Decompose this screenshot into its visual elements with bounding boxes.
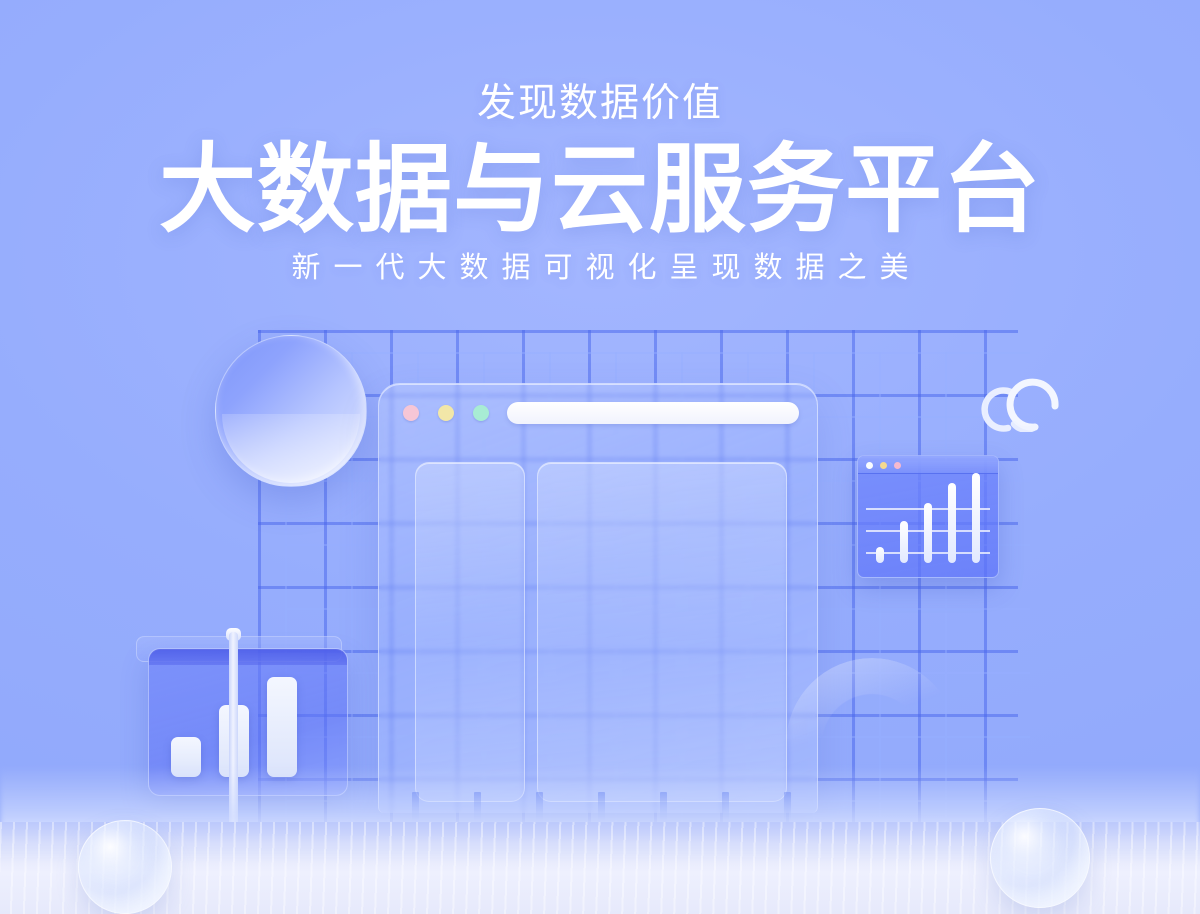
- right-card-bar-5: [972, 473, 980, 563]
- left-card-bar-3: [267, 677, 297, 777]
- cloud-icon: [978, 366, 1068, 432]
- hero-eyebrow: 发现数据价值: [0, 82, 1200, 127]
- browser-window-mockup[interactable]: [378, 383, 818, 813]
- right-card-bar-2: [900, 521, 908, 563]
- mini-dot-3[interactable]: [894, 462, 901, 469]
- browser-title-bar: [379, 384, 817, 442]
- minimize-dot[interactable]: [438, 405, 454, 421]
- sidebar-pane[interactable]: [415, 462, 525, 802]
- content-pane[interactable]: [537, 462, 787, 802]
- left-card-title-bar: [149, 649, 347, 665]
- mini-dot-2[interactable]: [880, 462, 887, 469]
- glass-sphere-left: [78, 820, 172, 914]
- hero-text-block: 发现数据价值 大数据与云服务平台 新一代大数据可视化呈现数据之美: [0, 82, 1200, 287]
- right-card-bar-1: [876, 547, 884, 563]
- right-card-title-bar: [858, 456, 998, 474]
- hero-banner: 发现数据价值 大数据与云服务平台 新一代大数据可视化呈现数据之美: [0, 0, 1200, 914]
- close-dot[interactable]: [403, 405, 419, 421]
- hero-headline: 大数据与云服务平台: [0, 139, 1200, 242]
- mini-traffic-dots: [866, 462, 901, 469]
- maximize-dot[interactable]: [473, 405, 489, 421]
- mini-dot-1[interactable]: [866, 462, 873, 469]
- address-bar-input[interactable]: [507, 402, 799, 424]
- right-card-bar-4: [948, 483, 956, 563]
- hero-subline: 新一代大数据可视化呈现数据之美: [0, 250, 1200, 288]
- glass-sphere-right: [990, 808, 1090, 908]
- right-card-bar-3: [924, 503, 932, 563]
- traffic-light-dots: [403, 405, 489, 421]
- glass-disc: [215, 335, 367, 487]
- right-mini-chart-card[interactable]: [857, 455, 999, 578]
